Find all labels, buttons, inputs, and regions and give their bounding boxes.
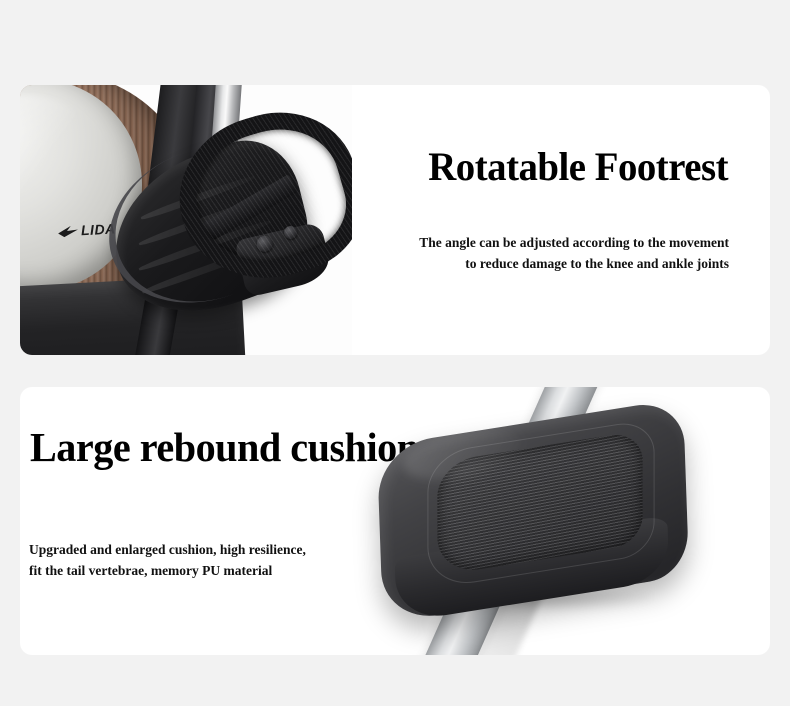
- footrest-product-image: LIDA: [20, 85, 352, 355]
- footrest-text-block: Rotatable Footrest The angle can be adju…: [350, 85, 770, 355]
- footrest-description-line-2: to reduce damage to the knee and ankle j…: [419, 254, 729, 275]
- footrest-description: The angle can be adjusted according to t…: [419, 233, 729, 275]
- cushion-description-line-1: Upgraded and enlarged cushion, high resi…: [29, 540, 306, 561]
- feature-card-footrest: LIDA Rotat: [20, 85, 770, 355]
- product-feature-page: LIDA Rotat: [0, 0, 790, 706]
- pedal-assembly: [99, 119, 338, 349]
- cushion-product-image: [350, 387, 770, 655]
- cushion-description: Upgraded and enlarged cushion, high resi…: [29, 540, 306, 582]
- arrow-swoosh-icon: [58, 225, 79, 237]
- footrest-description-line-1: The angle can be adjusted according to t…: [419, 233, 729, 254]
- footrest-headline: Rotatable Footrest: [428, 147, 728, 187]
- feature-card-cushion: Large rebound cushion Upgraded and enlar…: [20, 387, 770, 655]
- cushion-description-line-2: fit the tail vertebrae, memory PU materi…: [29, 561, 306, 582]
